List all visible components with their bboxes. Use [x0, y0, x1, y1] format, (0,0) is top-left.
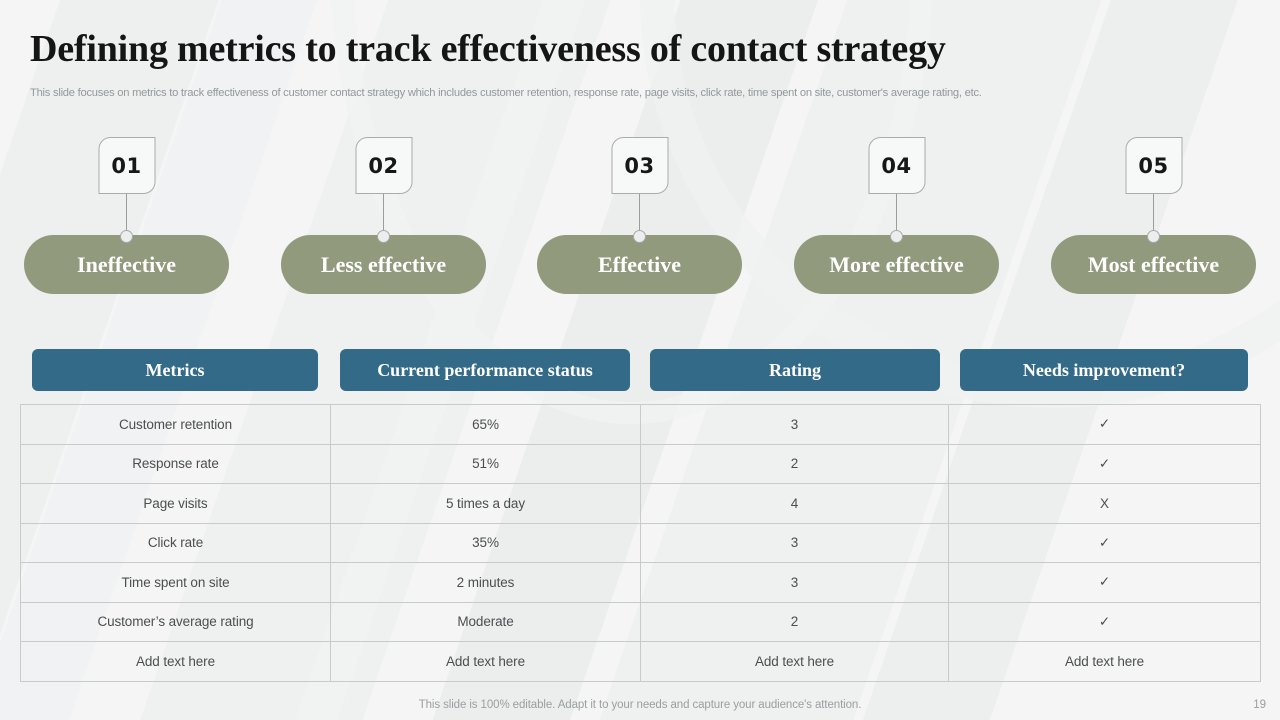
- stage-number-badge: 02: [355, 137, 412, 194]
- stage-item-3[interactable]: 03 Effective: [537, 137, 742, 297]
- stage-item-2[interactable]: 02 Less effective: [281, 137, 486, 297]
- cell-status: Moderate: [331, 602, 641, 642]
- table-row[interactable]: Customer retention 65% 3 ✓: [21, 405, 1261, 445]
- table-row[interactable]: Response rate 51% 2 ✓: [21, 444, 1261, 484]
- slide-footnote: This slide is 100% editable. Adapt it to…: [0, 699, 1280, 711]
- stage-number-badge: 03: [611, 137, 668, 194]
- cell-metric: Add text here: [21, 642, 331, 682]
- cell-rating: 3: [641, 405, 949, 445]
- cell-status: Add text here: [331, 642, 641, 682]
- cell-needs-improvement: Add text here: [949, 642, 1261, 682]
- page-title: Defining metrics to track effectiveness …: [30, 27, 946, 71]
- stage-number-badge: 04: [868, 137, 925, 194]
- cell-rating: 2: [641, 444, 949, 484]
- cell-metric: Response rate: [21, 444, 331, 484]
- cell-rating: 3: [641, 523, 949, 563]
- table-header-needs[interactable]: Needs improvement?: [960, 349, 1248, 391]
- stage-number-badge: 05: [1125, 137, 1182, 194]
- cell-metric: Page visits: [21, 484, 331, 524]
- stage-connector-dot: [120, 230, 133, 243]
- stage-number-badge: 01: [98, 137, 155, 194]
- cell-status: 65%: [331, 405, 641, 445]
- cell-rating: Add text here: [641, 642, 949, 682]
- stage-label-pill[interactable]: Less effective: [281, 235, 486, 294]
- stage-connector-dot: [1147, 230, 1160, 243]
- cell-metric: Click rate: [21, 523, 331, 563]
- cell-status: 51%: [331, 444, 641, 484]
- table-row[interactable]: Add text here Add text here Add text her…: [21, 642, 1261, 682]
- table-header-status[interactable]: Current performance status: [340, 349, 630, 391]
- cell-metric: Customer retention: [21, 405, 331, 445]
- slide-page-number: 19: [1253, 699, 1266, 711]
- stage-label-pill[interactable]: Ineffective: [24, 235, 229, 294]
- cell-rating: 2: [641, 602, 949, 642]
- page-subtitle: This slide focuses on metrics to track e…: [30, 86, 1220, 100]
- stage-connector-dot: [890, 230, 903, 243]
- cell-rating: 3: [641, 563, 949, 603]
- slide-canvas: Defining metrics to track effectiveness …: [0, 0, 1280, 720]
- table-row[interactable]: Time spent on site 2 minutes 3 ✓: [21, 563, 1261, 603]
- table-header-metrics[interactable]: Metrics: [32, 349, 318, 391]
- cell-rating: 4: [641, 484, 949, 524]
- cell-needs-improvement: ✓: [949, 602, 1261, 642]
- stage-connector-dot: [377, 230, 390, 243]
- stage-item-5[interactable]: 05 Most effective: [1051, 137, 1256, 297]
- cell-needs-improvement: ✓: [949, 523, 1261, 563]
- cell-status: 2 minutes: [331, 563, 641, 603]
- stage-label-pill[interactable]: More effective: [794, 235, 999, 294]
- cell-needs-improvement: X: [949, 484, 1261, 524]
- cell-needs-improvement: ✓: [949, 563, 1261, 603]
- table-row[interactable]: Click rate 35% 3 ✓: [21, 523, 1261, 563]
- cell-needs-improvement: ✓: [949, 444, 1261, 484]
- cell-status: 5 times a day: [331, 484, 641, 524]
- stage-label-pill[interactable]: Most effective: [1051, 235, 1256, 294]
- cell-metric: Time spent on site: [21, 563, 331, 603]
- stage-item-4[interactable]: 04 More effective: [794, 137, 999, 297]
- table-row[interactable]: Page visits 5 times a day 4 X: [21, 484, 1261, 524]
- table-row[interactable]: Customer’s average rating Moderate 2 ✓: [21, 602, 1261, 642]
- stage-label-pill[interactable]: Effective: [537, 235, 742, 294]
- stage-item-1[interactable]: 01 Ineffective: [24, 137, 229, 297]
- cell-status: 35%: [331, 523, 641, 563]
- cell-metric: Customer’s average rating: [21, 602, 331, 642]
- cell-needs-improvement: ✓: [949, 405, 1261, 445]
- stage-connector-dot: [633, 230, 646, 243]
- metrics-table: Customer retention 65% 3 ✓ Response rate…: [20, 404, 1261, 682]
- table-header-rating[interactable]: Rating: [650, 349, 940, 391]
